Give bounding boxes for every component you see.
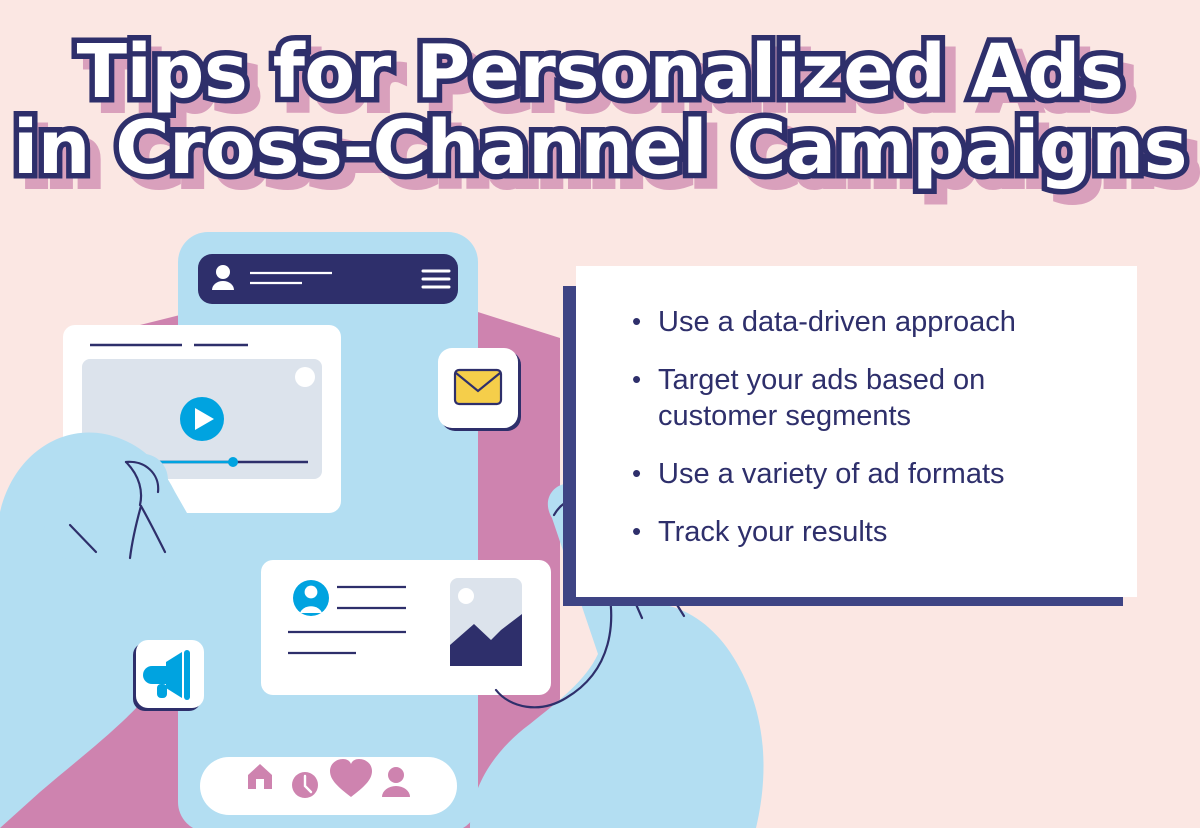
tips-card: • Use a data-driven approach • Target yo… <box>576 266 1137 597</box>
phone-frame <box>178 232 478 828</box>
list-item: • Use a variety of ad formats <box>632 456 1107 492</box>
phone-topbar <box>198 254 458 304</box>
phone-bottom-nav <box>200 757 457 815</box>
tip-text: Use a data-driven approach <box>658 304 1016 340</box>
list-item: • Target your ads based on customer segm… <box>632 362 1107 434</box>
bullet-icon: • <box>632 304 658 338</box>
tip-text: Use a variety of ad formats <box>658 456 1005 492</box>
tip-text: Target your ads based on customer segmen… <box>658 362 1107 434</box>
list-item: • Track your results <box>632 514 1107 550</box>
tip-text: Track your results <box>658 514 887 550</box>
screen-dot-icon <box>295 367 315 387</box>
bullet-icon: • <box>632 362 658 396</box>
placeholder-sun-icon <box>458 588 474 604</box>
post-card-avatar-icon <box>293 580 329 616</box>
envelope-icon <box>455 370 501 404</box>
clock-icon[interactable] <box>292 772 318 798</box>
bullet-icon: • <box>632 514 658 548</box>
list-item: • Use a data-driven approach <box>632 304 1107 340</box>
progress-handle-icon[interactable] <box>228 457 238 467</box>
infographic-canvas: Tips for Personalized Ads Tips for Perso… <box>0 0 1200 828</box>
bullet-icon: • <box>632 456 658 490</box>
